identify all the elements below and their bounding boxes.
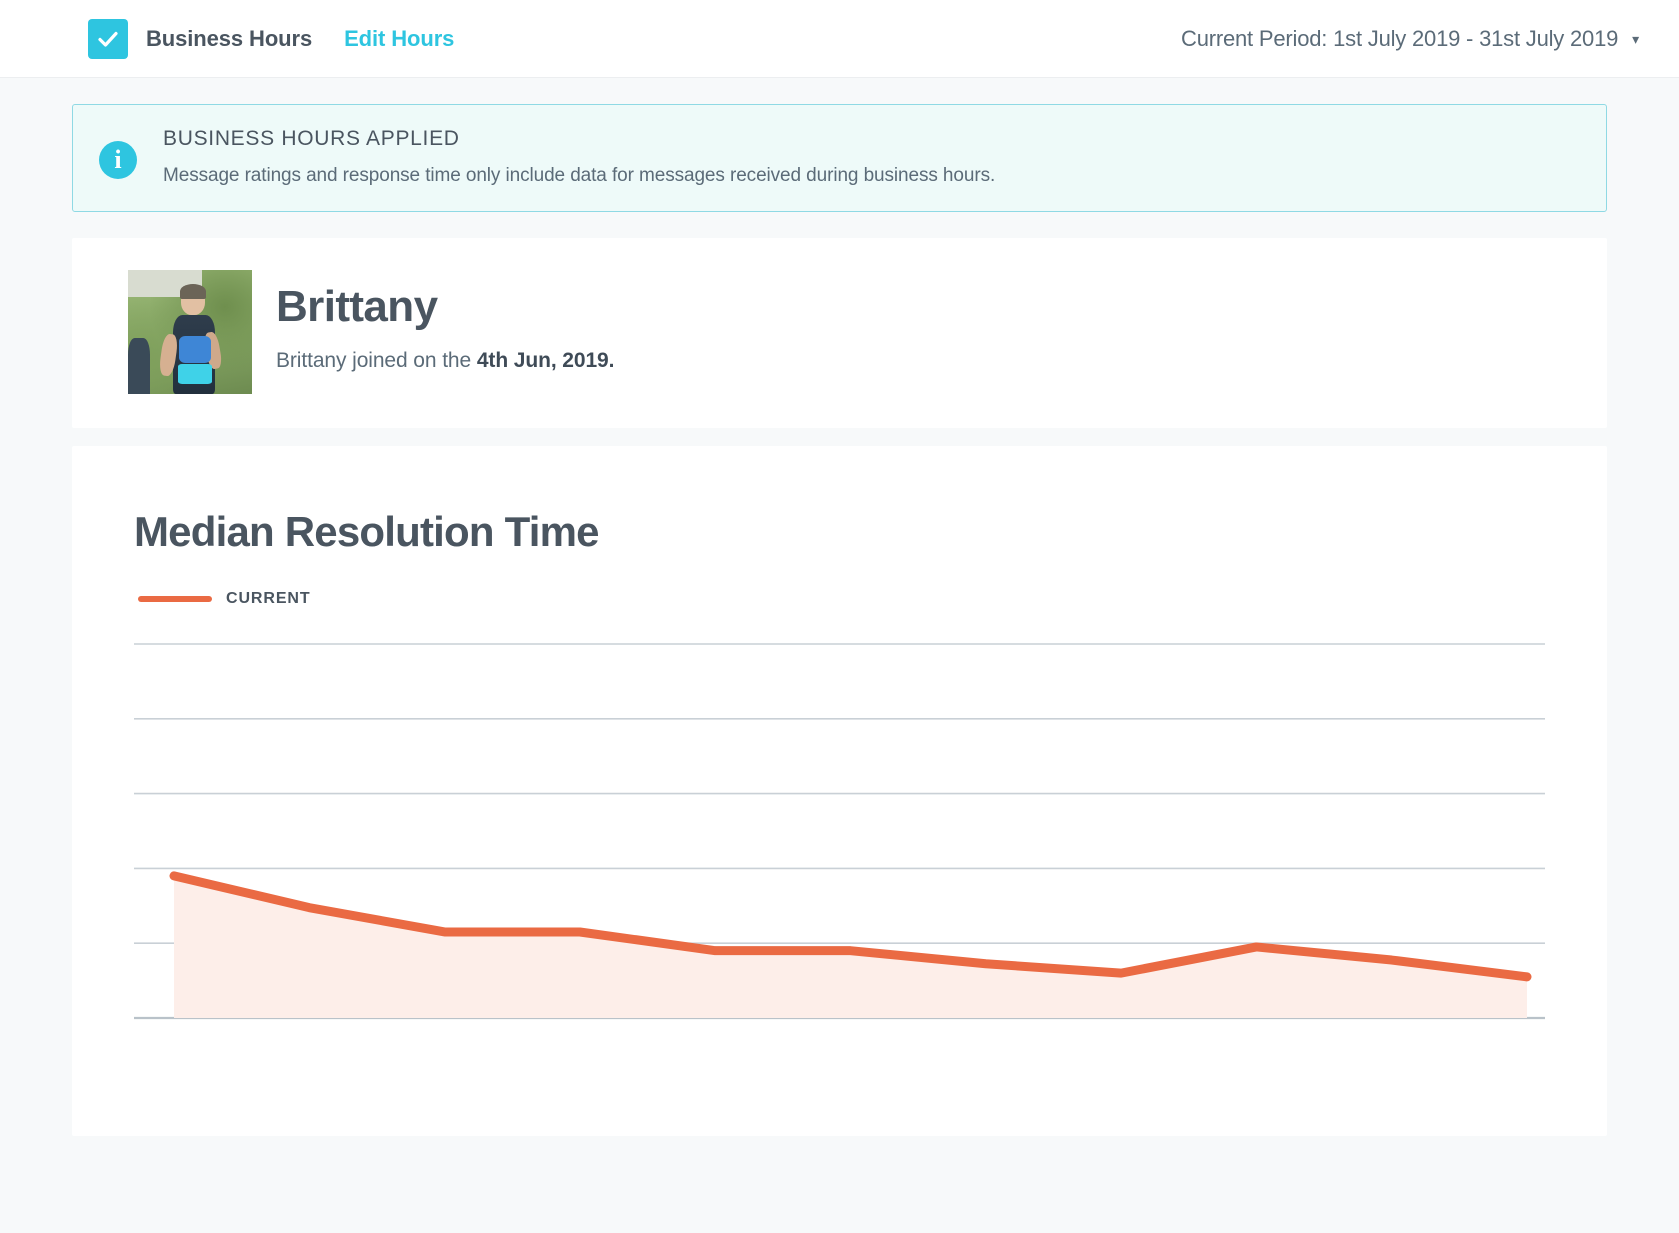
banner-text: BUSINESS HOURS APPLIED Message ratings a… bbox=[163, 127, 995, 187]
profile-joined-text: Brittany joined on the 4th Jun, 2019. bbox=[276, 349, 614, 373]
business-hours-label: Business Hours bbox=[146, 26, 312, 52]
chart-legend: CURRENT bbox=[138, 590, 1545, 608]
legend-swatch-current bbox=[138, 596, 212, 602]
banner-body: Message ratings and response time only i… bbox=[163, 165, 995, 187]
edit-hours-link[interactable]: Edit Hours bbox=[344, 26, 454, 52]
joined-prefix: Brittany joined on the bbox=[276, 349, 477, 372]
business-hours-banner: i BUSINESS HOURS APPLIED Message ratings… bbox=[72, 104, 1607, 212]
agent-profile-card: Brittany Brittany joined on the 4th Jun,… bbox=[72, 238, 1607, 428]
chevron-down-icon: ▾ bbox=[1632, 32, 1639, 46]
period-label: Current Period: 1st July 2019 - 31st Jul… bbox=[1181, 26, 1618, 52]
check-icon bbox=[96, 27, 120, 51]
top-bar: Business Hours Edit Hours Current Period… bbox=[0, 0, 1679, 78]
business-hours-checkbox[interactable] bbox=[88, 19, 128, 59]
chart-plot-area bbox=[134, 636, 1545, 1026]
banner-title: BUSINESS HOURS APPLIED bbox=[163, 127, 995, 151]
period-selector[interactable]: Current Period: 1st July 2019 - 31st Jul… bbox=[1181, 26, 1639, 52]
median-resolution-time-chart bbox=[134, 636, 1545, 1026]
median-resolution-time-card: Median Resolution Time CURRENT bbox=[72, 446, 1607, 1136]
business-hours-group: Business Hours Edit Hours bbox=[88, 19, 454, 59]
chart-title: Median Resolution Time bbox=[134, 508, 1545, 556]
page-title: Brittany bbox=[276, 282, 614, 333]
legend-label-current: CURRENT bbox=[226, 590, 311, 608]
info-icon: i bbox=[99, 141, 137, 179]
content-container: i BUSINESS HOURS APPLIED Message ratings… bbox=[72, 104, 1607, 1136]
avatar bbox=[128, 270, 252, 394]
profile-meta: Brittany Brittany joined on the 4th Jun,… bbox=[276, 270, 614, 373]
joined-date: 4th Jun, 2019. bbox=[477, 349, 615, 372]
page-body: i BUSINESS HOURS APPLIED Message ratings… bbox=[0, 78, 1679, 1233]
